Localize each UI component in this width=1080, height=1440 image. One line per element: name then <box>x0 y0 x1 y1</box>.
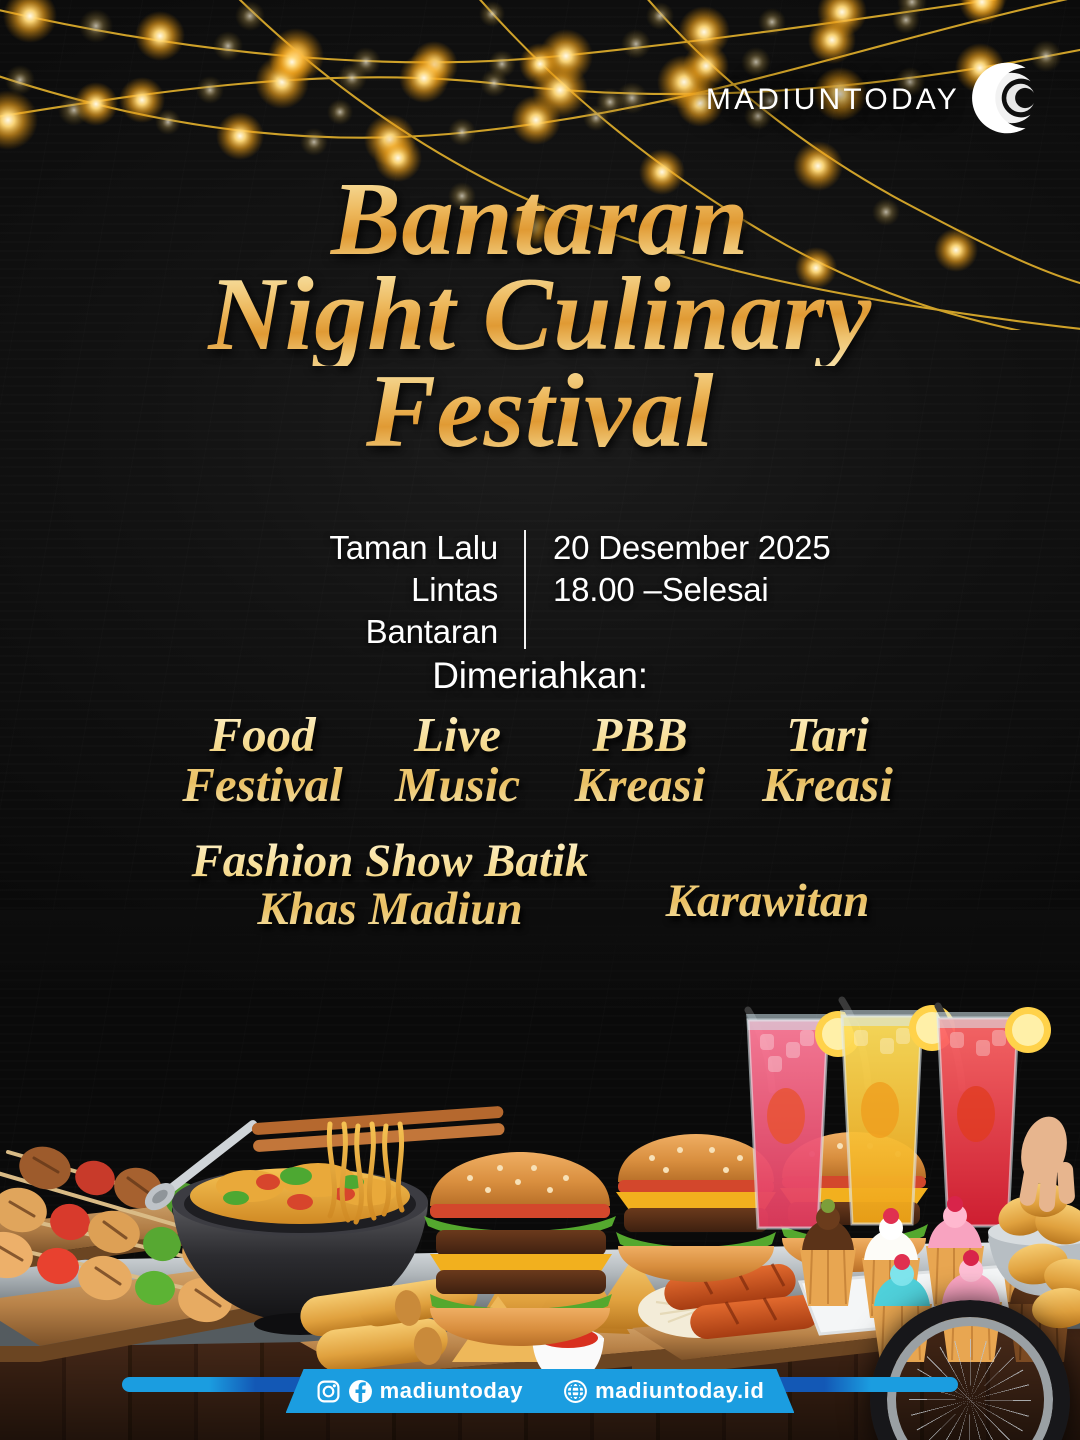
lineup-row-2: Fashion Show Batik Khas Madiun Karawitan <box>0 838 1080 934</box>
lineup-item-fashion-show: Fashion Show Batik Khas Madiun <box>163 838 618 934</box>
title-line-3: Festival <box>0 360 1080 463</box>
lineup-item-line-2: Kreasi <box>548 760 733 810</box>
poster-root: MADIUNTODAY Bantaran Night Culinary Fest… <box>0 0 1080 1440</box>
title-line-2: Night Culinary <box>0 263 1080 366</box>
social-handle-group[interactable]: madiuntoday <box>316 1378 524 1404</box>
venue-line-1: Taman Lalu Lintas <box>234 527 498 611</box>
lineup-item-pbb-kreasi: PBB Kreasi <box>548 710 733 810</box>
crescent-swoosh-icon <box>960 56 1044 140</box>
website-text: madiuntoday.id <box>595 1378 764 1404</box>
venue-date-block: Taman Lalu Lintas Bantaran 20 Desember 2… <box>0 527 1080 654</box>
logo-wordmark: MADIUNTODAY <box>706 83 960 117</box>
venue-column: Taman Lalu Lintas Bantaran <box>234 527 524 654</box>
lineup-item-line-1: Live <box>368 710 548 760</box>
event-date: 20 Desember 2025 <box>553 527 846 569</box>
social-handle-text: madiuntoday <box>380 1378 524 1404</box>
event-time: 18.00 –Selesai <box>553 569 846 611</box>
datetime-column: 20 Desember 2025 18.00 –Selesai <box>526 527 846 654</box>
website-group[interactable]: madiuntoday.id <box>563 1378 764 1404</box>
lineup-item-line-1: Tari <box>733 710 923 760</box>
lineup-item-tari-kreasi: Tari Kreasi <box>733 710 923 810</box>
venue-line-2: Bantaran <box>234 611 498 653</box>
brand-logo: MADIUNTODAY <box>706 60 1044 140</box>
lineup-item-karawitan: Karawitan <box>618 838 918 926</box>
lineup-item-line-2: Music <box>368 760 548 810</box>
instagram-icon[interactable] <box>316 1379 341 1404</box>
globe-icon[interactable] <box>563 1379 588 1404</box>
lineup-item-line-1: Karawitan <box>666 875 870 927</box>
event-title: Bantaran Night Culinary Festival <box>0 168 1080 463</box>
facebook-icon[interactable] <box>348 1379 373 1404</box>
food-photo-collage <box>0 910 1080 1440</box>
lineup-item-food-festival: Food Festival <box>158 710 368 810</box>
lineup-label: Dimeriahkan: <box>0 655 1080 697</box>
lineup-row-1: Food Festival Live Music PBB Kreasi Tari… <box>0 710 1080 810</box>
lineup-item-line-1: Food <box>158 710 368 760</box>
lineup-item-line-1: Fashion Show <box>191 835 472 887</box>
vertical-divider <box>524 530 526 649</box>
lineup-item-line-2: Kreasi <box>733 760 923 810</box>
social-banner: madiuntoday madiuntoday.id <box>286 1369 795 1413</box>
lineup-item-line-1: PBB <box>548 710 733 760</box>
lineup-item-live-music: Live Music <box>368 710 548 810</box>
lineup-item-line-2: Festival <box>158 760 368 810</box>
footer-social-bar: madiuntoday madiuntoday.id <box>0 1369 1080 1413</box>
